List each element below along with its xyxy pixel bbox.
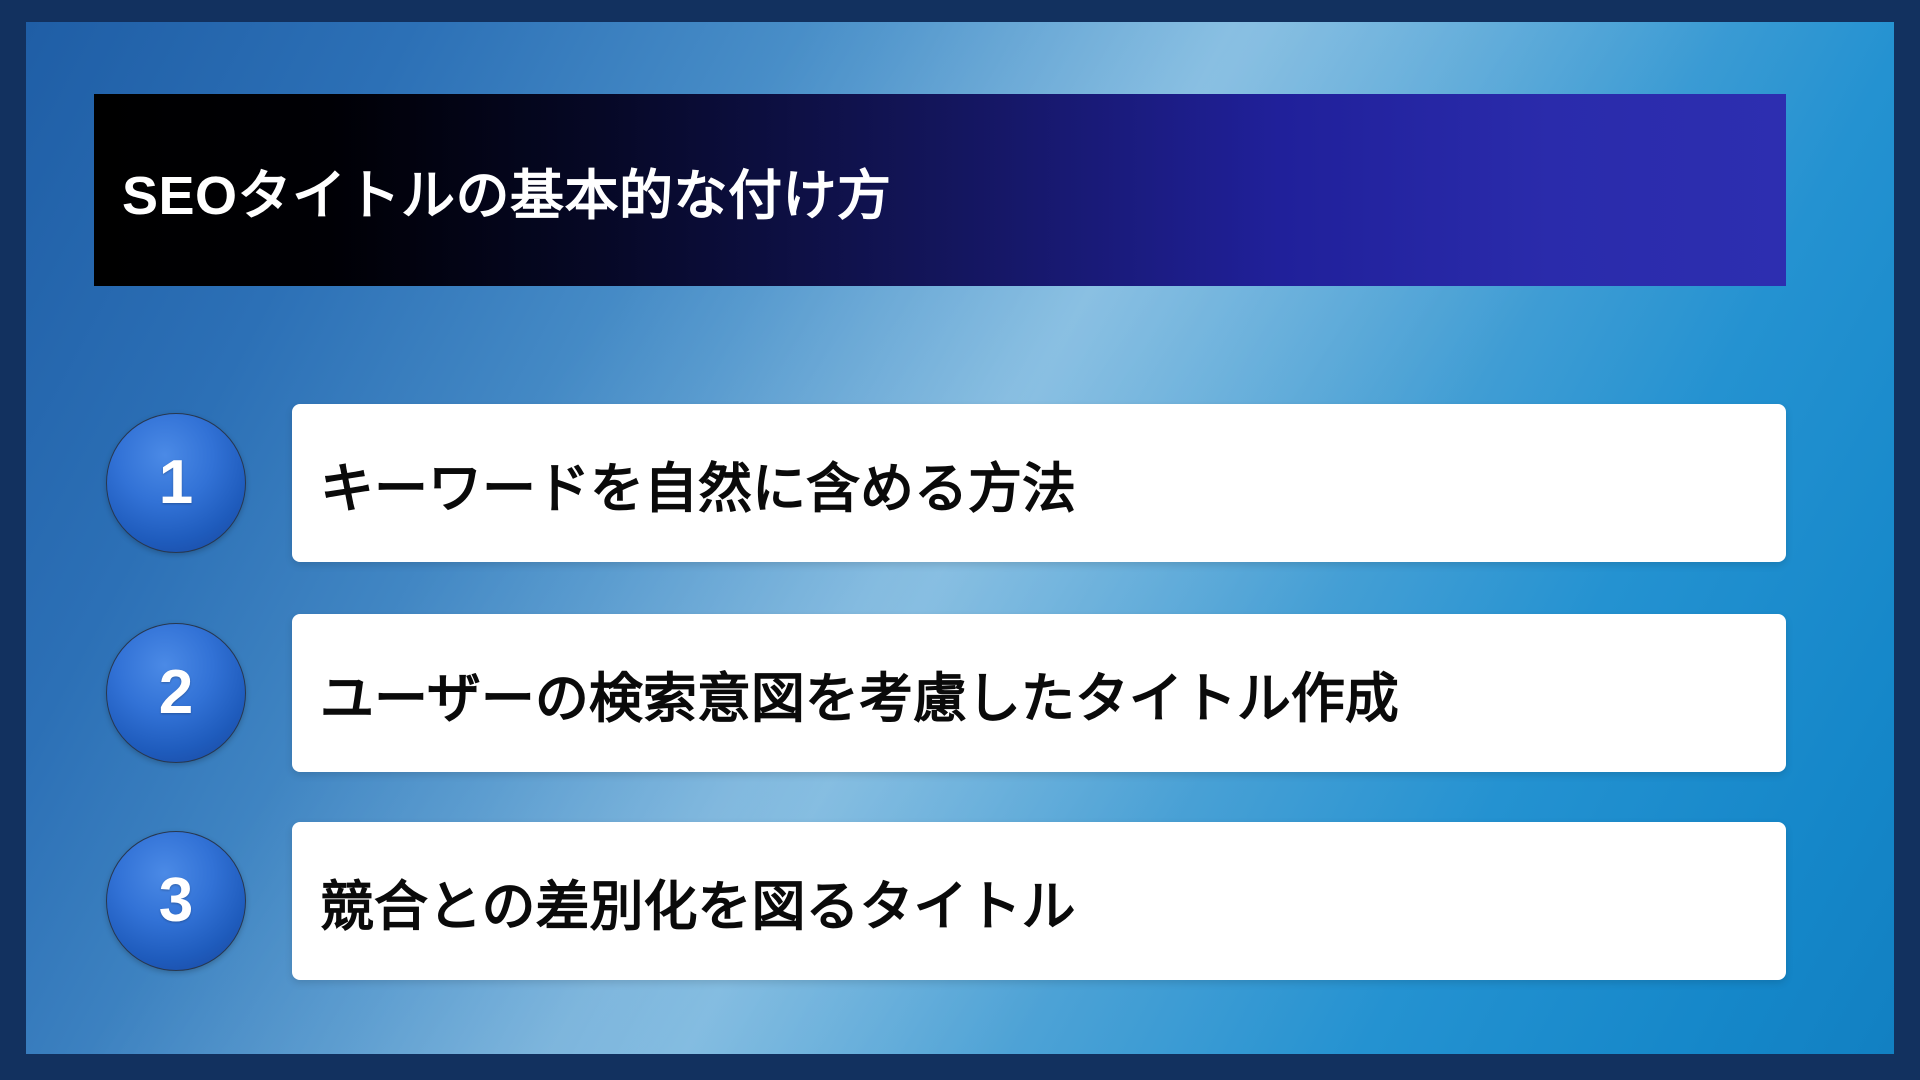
- step-card[interactable]: 競合との差別化を図るタイトル: [292, 822, 1786, 980]
- slide-root: SEOタイトルの基本的な付け方 1 キーワードを自然に含める方法 2 ユーザーの…: [0, 0, 1920, 1080]
- step-number-badge: 3: [106, 831, 246, 971]
- step-card-label: キーワードを自然に含める方法: [292, 444, 1076, 523]
- step-card[interactable]: キーワードを自然に含める方法: [292, 404, 1786, 562]
- list-item[interactable]: 3 競合との差別化を図るタイトル: [94, 822, 1786, 980]
- step-number-badge: 2: [106, 623, 246, 763]
- list-item[interactable]: 2 ユーザーの検索意図を考慮したタイトル作成: [94, 614, 1786, 772]
- title-banner: SEOタイトルの基本的な付け方: [94, 94, 1786, 286]
- page-title: SEOタイトルの基本的な付け方: [94, 151, 892, 230]
- list-item[interactable]: 1 キーワードを自然に含める方法: [94, 404, 1786, 562]
- step-card-label: ユーザーの検索意図を考慮したタイトル作成: [292, 654, 1399, 733]
- slide-panel: SEOタイトルの基本的な付け方 1 キーワードを自然に含める方法 2 ユーザーの…: [26, 22, 1894, 1054]
- step-card-label: 競合との差別化を図るタイトル: [292, 862, 1075, 941]
- step-number-label: 3: [159, 870, 193, 932]
- step-number-label: 2: [159, 662, 193, 724]
- step-number-label: 1: [159, 452, 193, 514]
- step-number-badge: 1: [106, 413, 246, 553]
- step-card[interactable]: ユーザーの検索意図を考慮したタイトル作成: [292, 614, 1786, 772]
